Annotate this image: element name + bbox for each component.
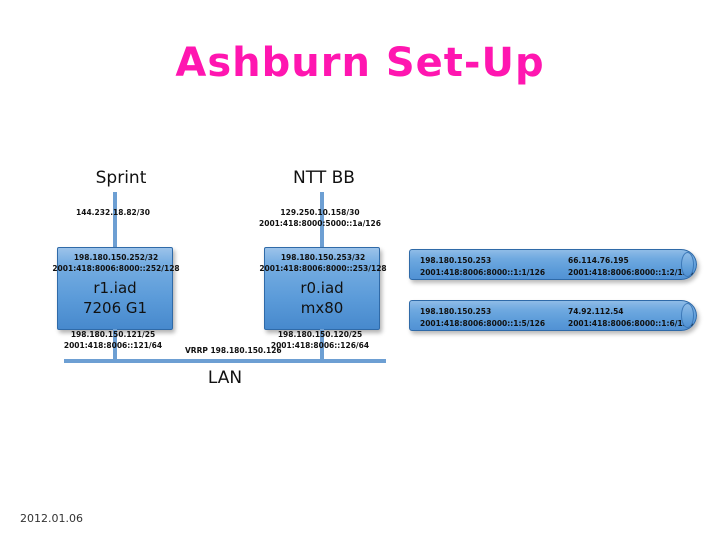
link-annotation-ntt-ipv4: 129.250.10.158/30 [250, 208, 390, 219]
link-annotation-sprint-ipv4: 144.232.18.82/30 [53, 208, 173, 219]
circuit-2-near-ipv6: 2001:418:8006:8000::1:5/126 [420, 318, 545, 330]
router-node-r0-iad[interactable]: 198.180.150.253/32 2001:418:8006:8000::2… [264, 247, 380, 330]
circuit-2-near-endpoint: 198.180.150.253 2001:418:8006:8000::1:5/… [420, 306, 545, 329]
circuit-1-near-ipv6: 2001:418:8006:8000::1:1/126 [420, 267, 545, 279]
router-r0-hostname: r0.iad [265, 278, 379, 298]
router-r0-model: mx80 [265, 298, 379, 318]
circuit-cylinder-2[interactable]: 198.180.150.253 2001:418:8006:8000::1:5/… [409, 300, 697, 331]
provider-label-ntt: NTT BB [266, 168, 382, 188]
link-annotation-r0-lan-ipv4: 198.180.150.120/25 [255, 330, 385, 341]
circuit-2-near-ipv4: 198.180.150.253 [420, 306, 545, 318]
circuit-2-far-ipv6: 2001:418:8006:8000::1:6/126 [568, 318, 693, 330]
router-r0-loopback-ipv4: 198.180.150.253/32 [247, 252, 399, 263]
circuit-cylinder-1[interactable]: 198.180.150.253 2001:418:8006:8000::1:1/… [409, 249, 697, 280]
lan-label: LAN [185, 368, 265, 388]
vrrp-annotation: VRRP 198.180.150.126 [185, 346, 282, 355]
link-annotation-r1-lan-ipv6: 2001:418:8006::121/64 [53, 341, 173, 352]
router-r0-loopback: 198.180.150.253/32 2001:418:8006:8000::2… [247, 252, 399, 275]
router-r1-loopback: 198.180.150.252/32 2001:418:8006:8000::2… [40, 252, 192, 275]
circuit-1-near-endpoint: 198.180.150.253 2001:418:8006:8000::1:1/… [420, 255, 545, 278]
router-r1-hostname: r1.iad [58, 278, 172, 298]
circuit-1-far-ipv4: 66.114.76.195 [568, 255, 693, 267]
cylinder-end-cap-icon [681, 303, 694, 328]
link-annotation-sprint: 144.232.18.82/30 [53, 208, 173, 219]
circuit-1-far-ipv6: 2001:418:8006:8000::1:2/126 [568, 267, 693, 279]
router-r1-loopback-ipv6: 2001:418:8006:8000::252/128 [40, 263, 192, 274]
router-r1-identity: r1.iad 7206 G1 [58, 278, 172, 319]
circuit-2-far-ipv4: 74.92.112.54 [568, 306, 693, 318]
slide-date: 2012.01.06 [20, 512, 83, 525]
router-node-r1-iad[interactable]: 198.180.150.252/32 2001:418:8006:8000::2… [57, 247, 173, 330]
page-title: Ashburn Set-Up [0, 40, 720, 86]
router-r0-loopback-ipv6: 2001:418:8006:8000::253/128 [247, 263, 399, 274]
lan-bus-line [64, 359, 386, 363]
link-line-sprint-to-r1 [113, 192, 117, 248]
circuit-1-near-ipv4: 198.180.150.253 [420, 255, 545, 267]
provider-label-sprint: Sprint [63, 168, 179, 188]
router-r1-model: 7206 G1 [58, 298, 172, 318]
router-r0-identity: r0.iad mx80 [265, 278, 379, 319]
circuit-2-far-endpoint: 74.92.112.54 2001:418:8006:8000::1:6/126 [568, 306, 693, 329]
circuit-1-far-endpoint: 66.114.76.195 2001:418:8006:8000::1:2/12… [568, 255, 693, 278]
slide-canvas: Ashburn Set-Up Sprint NTT BB 144.232.18.… [0, 0, 720, 540]
link-annotation-ntt: 129.250.10.158/30 2001:418:8000:5000::1a… [250, 208, 390, 230]
router-r1-loopback-ipv4: 198.180.150.252/32 [40, 252, 192, 263]
cylinder-end-cap-icon [681, 252, 694, 277]
link-annotation-r1-lan-ipv4: 198.180.150.121/25 [53, 330, 173, 341]
link-annotation-r1-lan: 198.180.150.121/25 2001:418:8006::121/64 [53, 330, 173, 352]
link-annotation-ntt-ipv6: 2001:418:8000:5000::1a/126 [250, 219, 390, 230]
